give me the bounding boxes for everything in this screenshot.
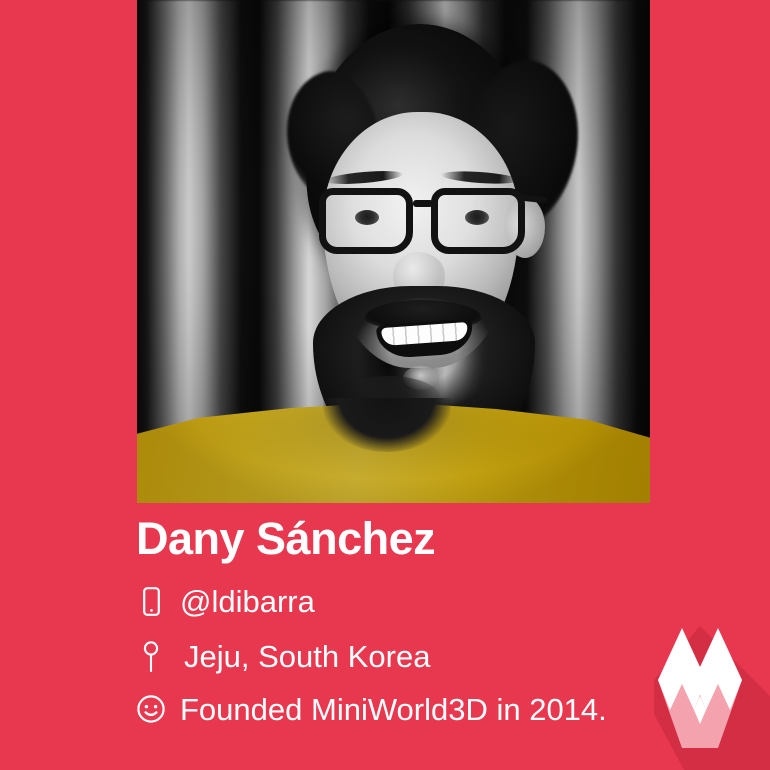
- miniworld3d-logo: [648, 618, 770, 770]
- location-text: Jeju, South Korea: [184, 641, 430, 672]
- location-pin-icon: [136, 640, 166, 672]
- detail-row-bio: Founded MiniWorld3D in 2014.: [136, 693, 607, 725]
- detail-row-location: Jeju, South Korea: [136, 640, 430, 672]
- handle-text: @ldibarra: [180, 586, 315, 617]
- smiley-face-icon: [136, 693, 166, 725]
- detail-row-handle: @ldibarra: [136, 585, 315, 617]
- photo-vignette: [137, 0, 650, 503]
- profile-name: Dany Sánchez: [136, 516, 435, 561]
- bio-text: Founded MiniWorld3D in 2014.: [180, 694, 607, 725]
- profile-card: Dany Sánchez @ldibarra Jeju, South Korea: [0, 0, 770, 770]
- phone-icon: [136, 585, 166, 617]
- profile-photo: [137, 0, 650, 503]
